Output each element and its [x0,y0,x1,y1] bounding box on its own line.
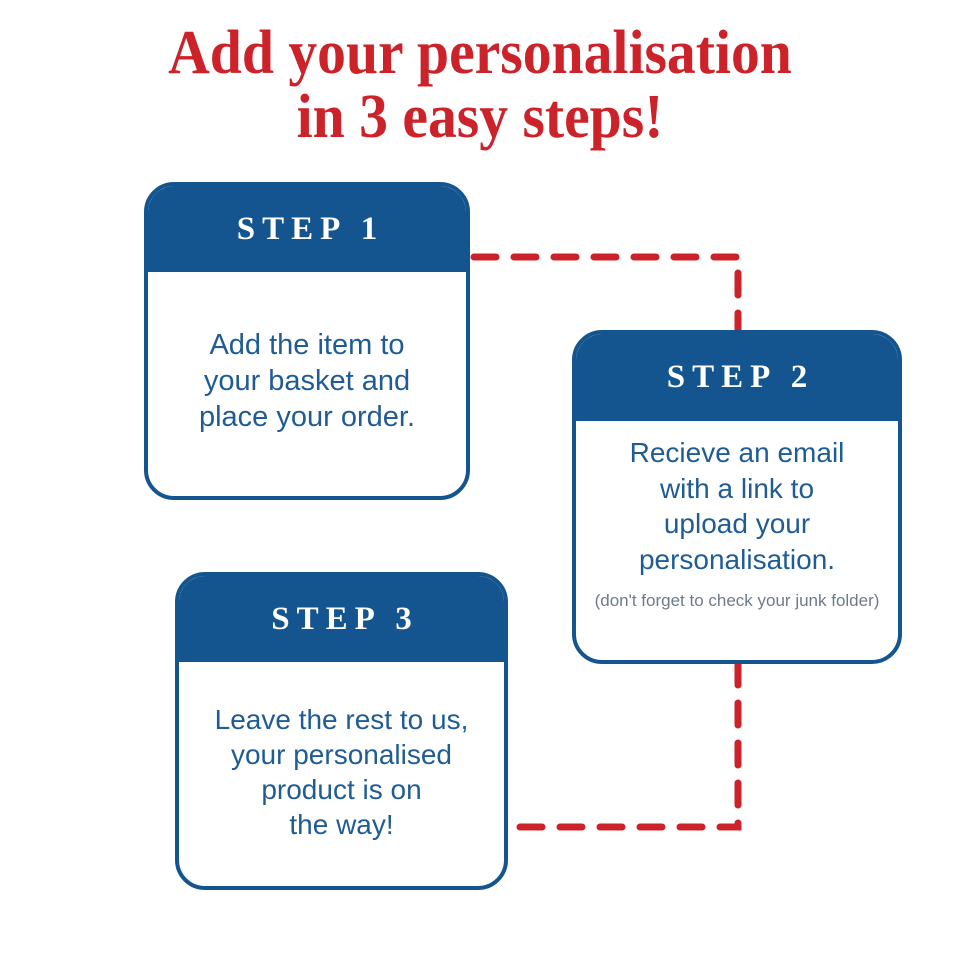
page-title-line-1: Add your personalisation [34,22,927,86]
infographic-poster: Add your personalisation in 3 easy steps… [0,0,960,960]
step-3-body: Leave the rest to us, your personalised … [179,662,504,886]
step-3-header: STEP 3 [179,576,504,662]
step-1-header: STEP 1 [148,186,466,272]
step-3-text: Leave the rest to us, your personalised … [215,702,469,842]
step-card-1: STEP 1 Add the item to your basket and p… [144,182,470,500]
step-1-text: Add the item to your basket and place yo… [199,327,415,436]
page-title-line-2: in 3 easy steps! [34,86,927,150]
step-card-2: STEP 2 Recieve an email with a link to u… [572,330,902,664]
step-2-header: STEP 2 [576,334,898,421]
step-2-text: Recieve an email with a link to upload y… [630,435,845,577]
step-2-body: Recieve an email with a link to upload y… [576,421,898,660]
page-title: Add your personalisation in 3 easy steps… [34,22,927,150]
connector-step2-to-step3-path [512,663,738,827]
step-card-3: STEP 3 Leave the rest to us, your person… [175,572,508,890]
step-2-note: (don't forget to check your junk folder) [595,591,880,611]
step-1-body: Add the item to your basket and place yo… [148,272,466,496]
connector-step1-to-step2-path [474,257,738,330]
